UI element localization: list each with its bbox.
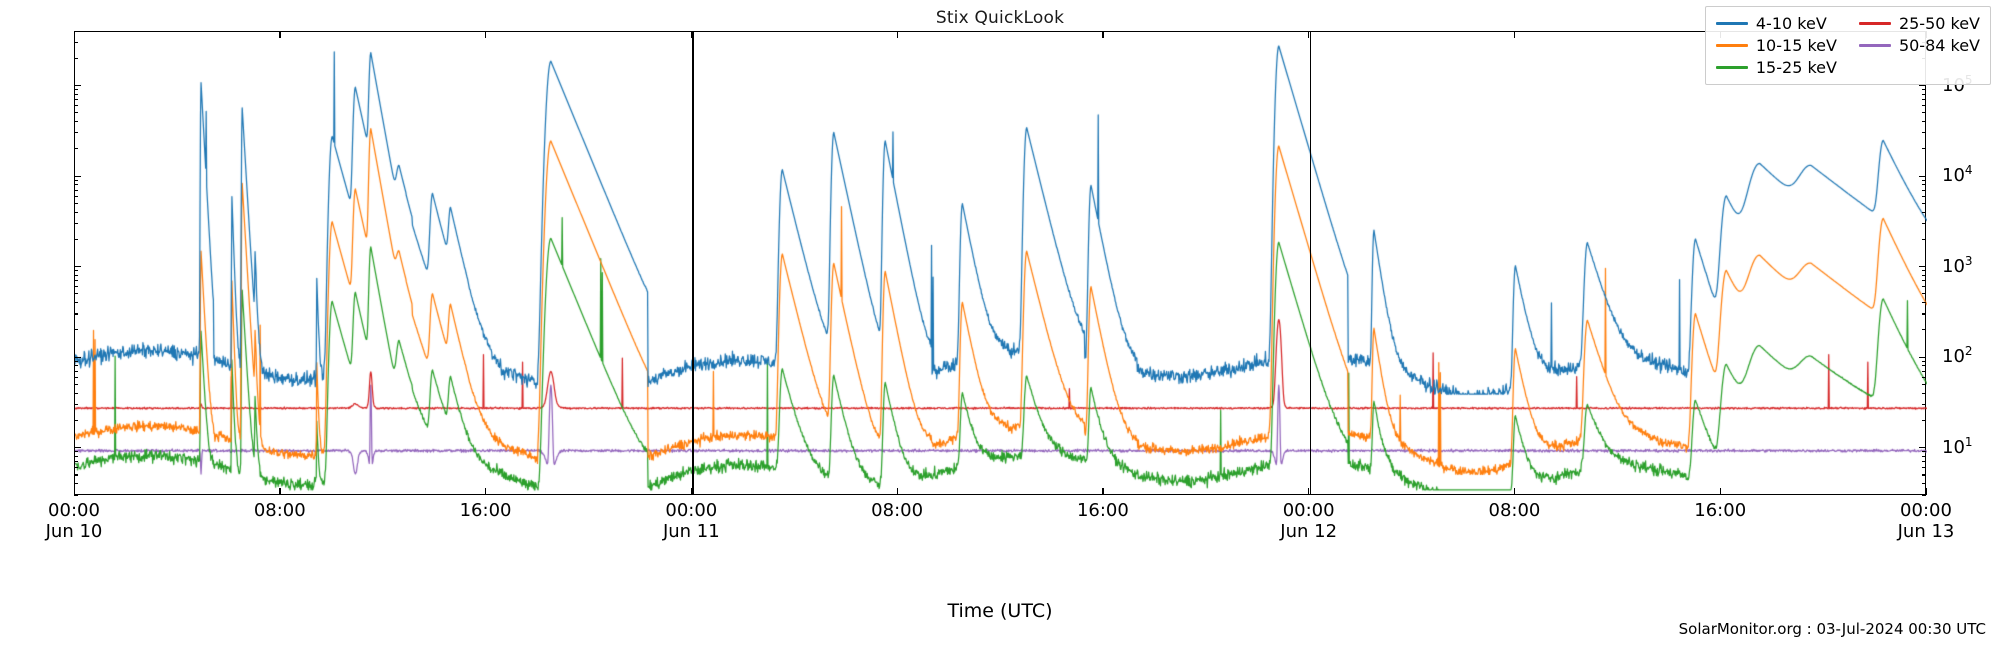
y-tickmark-left	[74, 58, 78, 59]
y-tickmark-left	[74, 286, 78, 287]
y-tickmark-left	[74, 85, 81, 86]
day-separator-0	[692, 32, 693, 494]
legend-item-50-84-kev[interactable]: 50-84 keV	[1859, 36, 1980, 55]
y-tickmark-right	[1922, 451, 1926, 452]
x-tickmark-top-3	[691, 31, 692, 38]
x-tickmark-top-2	[485, 31, 486, 38]
y-tick-label-right-1e3: 103	[1942, 254, 1973, 277]
y-tick-label-right-1e2: 102	[1942, 344, 1973, 367]
legend-label: 50-84 keV	[1899, 36, 1980, 55]
y-tickmark-left	[74, 293, 78, 294]
x-tickmark-top-7	[1514, 31, 1515, 38]
legend-label: 25-50 keV	[1899, 14, 1980, 33]
y-tickmark-right	[1922, 180, 1926, 181]
legend-item-4-10-kev[interactable]: 4-10 keV	[1716, 14, 1837, 33]
x-tick-date: Jun 10	[46, 521, 103, 542]
y-tickmark-left	[74, 474, 78, 475]
y-tickmark-left	[74, 89, 78, 90]
y-tickmark-right	[1922, 223, 1926, 224]
y-tickmark-right	[1922, 89, 1926, 90]
legend-swatch-icon	[1716, 66, 1748, 69]
y-tickmark-left	[74, 184, 78, 185]
y-tickmark-right	[1919, 176, 1926, 177]
page-title: Stix QuickLook	[0, 8, 2000, 28]
x-tickmark-top-6	[1308, 31, 1309, 38]
x-tick-date: Jun 13	[1898, 521, 1955, 542]
y-tickmark-left	[74, 357, 81, 358]
y-tickmark-left	[74, 404, 78, 405]
y-tickmark-right	[1922, 280, 1926, 281]
y-tickmark-right	[1922, 329, 1926, 330]
y-tickmark-left	[74, 302, 78, 303]
x-tick-label-7: 08:00	[1489, 500, 1541, 521]
y-tickmark-right	[1922, 148, 1926, 149]
y-tickmark-left	[74, 361, 78, 362]
y-tickmark-right	[1922, 420, 1926, 421]
x-tickmark-top-4	[897, 31, 898, 38]
legend-item-25-50-kev[interactable]: 25-50 keV	[1859, 14, 1980, 33]
x-tickmark-2	[485, 488, 486, 495]
y-tickmark-right	[1919, 266, 1926, 267]
y-tickmark-left	[74, 112, 78, 113]
y-tickmark-right	[1922, 286, 1926, 287]
y-tickmark-left	[74, 451, 78, 452]
legend-label: 10-15 keV	[1756, 36, 1837, 55]
x-tickmark-8	[1720, 488, 1721, 495]
y-tickmark-right	[1922, 377, 1926, 378]
x-tick-time: 16:00	[1694, 500, 1746, 521]
x-tickmark-1	[279, 488, 280, 495]
legend-swatch-icon	[1859, 44, 1891, 47]
y-tick-label-right-1e4: 104	[1942, 163, 1973, 186]
x-tick-label-4: 08:00	[871, 500, 923, 521]
y-tickmark-right	[1922, 302, 1926, 303]
x-tick-time: 00:00	[48, 500, 100, 521]
legend-swatch-icon	[1859, 22, 1891, 25]
y-tickmark-left	[74, 176, 81, 177]
y-tickmark-right	[1922, 456, 1926, 457]
y-tickmark-left	[74, 223, 78, 224]
legend-label: 15-25 keV	[1756, 58, 1837, 77]
x-tick-label-8: 16:00	[1694, 500, 1746, 521]
legend-item-15-25-kev[interactable]: 15-25 keV	[1716, 58, 1837, 77]
x-tickmark-3	[691, 488, 692, 495]
x-tick-time: 08:00	[1489, 500, 1541, 521]
x-tick-date: Jun 11	[663, 521, 720, 542]
y-tickmark-left	[74, 266, 81, 267]
legend[interactable]: 4-10 keV25-50 keV10-15 keV50-84 keV15-25…	[1705, 6, 1991, 85]
y-tickmark-left	[74, 377, 78, 378]
y-tickmark-right	[1922, 99, 1926, 100]
x-tick-label-3: 00:00Jun 11	[663, 500, 720, 542]
y-tickmark-right	[1922, 461, 1926, 462]
y-tickmark-right	[1922, 132, 1926, 133]
x-tickmark-5	[1102, 488, 1103, 495]
y-tickmark-left	[74, 42, 78, 43]
y-tickmark-left	[74, 420, 78, 421]
y-tickmark-left	[74, 275, 78, 276]
x-tick-label-1: 08:00	[254, 500, 306, 521]
y-tickmark-right	[1922, 275, 1926, 276]
y-tickmark-left	[74, 393, 78, 394]
y-tickmark-left	[74, 280, 78, 281]
y-tickmark-right	[1922, 190, 1926, 191]
y-tickmark-right	[1922, 270, 1926, 271]
y-tickmark-right	[1922, 313, 1926, 314]
x-tickmark-top-1	[279, 31, 280, 38]
y-tickmark-left	[74, 99, 78, 100]
x-tickmark-top-5	[1102, 31, 1103, 38]
y-tickmark-left	[74, 329, 78, 330]
y-tickmark-right	[1922, 474, 1926, 475]
y-tickmark-right	[1922, 384, 1926, 385]
x-tickmark-0	[74, 488, 75, 495]
y-tickmark-left	[74, 270, 78, 271]
y-tickmark-right	[1922, 203, 1926, 204]
y-tickmark-right	[1919, 85, 1926, 86]
legend-item-10-15-kev[interactable]: 10-15 keV	[1716, 36, 1837, 55]
y-tickmark-left	[74, 467, 78, 468]
y-tickmark-right	[1922, 404, 1926, 405]
y-tickmark-right	[1922, 293, 1926, 294]
y-tickmark-left	[74, 313, 78, 314]
y-tickmark-right	[1922, 371, 1926, 372]
y-tickmark-right	[1922, 212, 1926, 213]
day-separator-1	[1310, 32, 1311, 494]
x-axis-label: Time (UTC)	[0, 600, 2000, 622]
x-tick-time: 16:00	[460, 500, 512, 521]
x-tick-time: 08:00	[254, 500, 306, 521]
x-tickmark-6	[1308, 488, 1309, 495]
x-tick-time: 00:00	[1900, 500, 1952, 521]
x-tick-label-5: 16:00	[1077, 500, 1129, 521]
x-tick-label-0: 00:00Jun 10	[46, 500, 103, 542]
y-tickmark-right	[1922, 467, 1926, 468]
y-tickmark-left	[74, 148, 78, 149]
y-tickmark-left	[74, 105, 78, 106]
y-tickmark-right	[1919, 447, 1926, 448]
y-tickmark-right	[1922, 94, 1926, 95]
x-tick-label-6: 00:00Jun 12	[1280, 500, 1337, 542]
x-tick-time: 16:00	[1077, 500, 1129, 521]
y-tickmark-right	[1922, 105, 1926, 106]
y-tickmark-right	[1922, 121, 1926, 122]
y-tickmark-right	[1922, 365, 1926, 366]
x-tick-label-9: 00:00Jun 13	[1898, 500, 1955, 542]
y-tickmark-left	[74, 447, 81, 448]
plot-axes	[74, 31, 1926, 495]
x-tickmark-4	[897, 488, 898, 495]
y-tickmark-left	[74, 203, 78, 204]
y-tickmark-left	[74, 384, 78, 385]
x-tick-date: Jun 12	[1280, 521, 1337, 542]
y-tickmark-left	[74, 121, 78, 122]
y-tickmark-right	[1922, 112, 1926, 113]
legend-swatch-icon	[1716, 22, 1748, 25]
x-tick-time: 00:00	[665, 500, 717, 521]
y-tickmark-left	[74, 239, 78, 240]
y-tick-label-right-1e1: 101	[1942, 435, 1973, 458]
time-series-canvas	[75, 32, 1927, 496]
y-tickmark-left	[74, 483, 78, 484]
x-tickmark-top-0	[74, 31, 75, 38]
y-tickmark-right	[1922, 239, 1926, 240]
x-tickmark-7	[1514, 488, 1515, 495]
y-tickmark-right	[1922, 483, 1926, 484]
watermark-credit: SolarMonitor.org : 03-Jul-2024 00:30 UTC	[1679, 620, 1986, 638]
x-tick-time: 00:00	[1283, 500, 1335, 521]
y-tickmark-left	[74, 190, 78, 191]
y-tickmark-right	[1922, 196, 1926, 197]
y-tickmark-left	[74, 196, 78, 197]
y-tickmark-left	[74, 365, 78, 366]
y-tickmark-right	[1922, 361, 1926, 362]
y-tickmark-left	[74, 461, 78, 462]
y-tickmark-left	[74, 212, 78, 213]
x-tickmark-9	[1926, 488, 1927, 495]
stix-quicklook-figure: Stix QuickLook Counts Time (UTC) 1011011…	[0, 0, 2000, 650]
y-tickmark-left	[74, 456, 78, 457]
y-tickmark-left	[74, 132, 78, 133]
y-tickmark-left	[74, 180, 78, 181]
y-tickmark-right	[1922, 184, 1926, 185]
y-tickmark-right	[1922, 393, 1926, 394]
x-tick-label-2: 16:00	[460, 500, 512, 521]
y-tickmark-left	[74, 94, 78, 95]
y-tickmark-left	[74, 371, 78, 372]
legend-swatch-icon	[1716, 44, 1748, 47]
x-tick-time: 08:00	[871, 500, 923, 521]
legend-label: 4-10 keV	[1756, 14, 1827, 33]
y-tickmark-right	[1919, 357, 1926, 358]
